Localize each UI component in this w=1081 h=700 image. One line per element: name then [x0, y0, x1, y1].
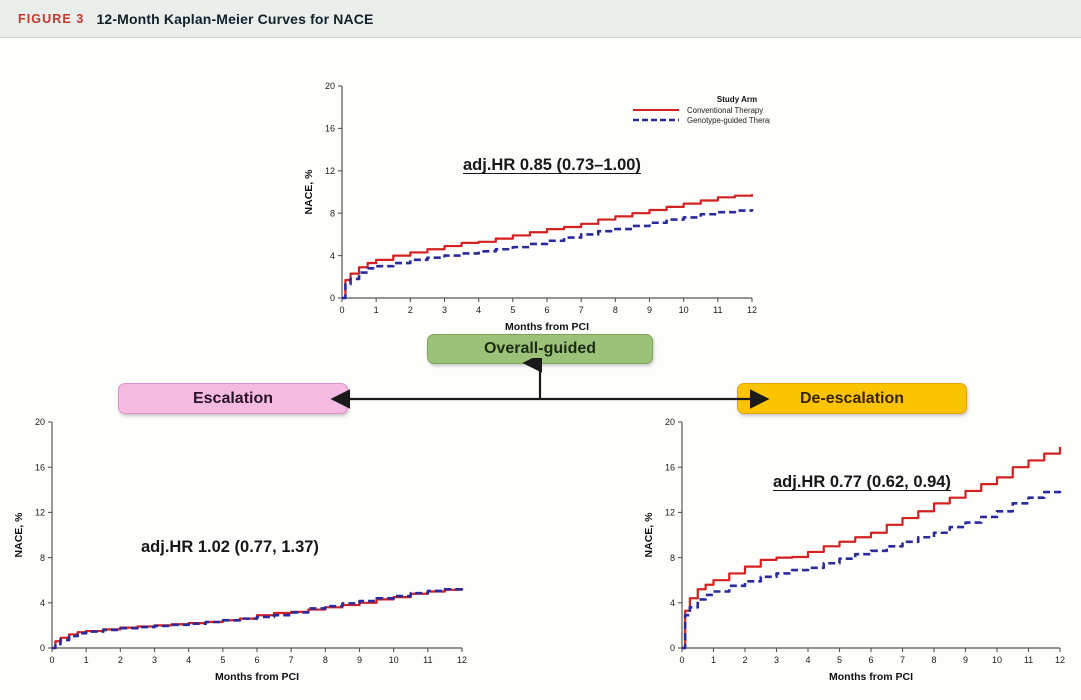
x-tick-label: 9 — [963, 655, 968, 665]
y-tick-label: 16 — [325, 124, 335, 134]
y-axis-title: NACE, % — [643, 512, 655, 558]
x-tick-label: 12 — [747, 305, 757, 315]
x-tick-label: 7 — [289, 655, 294, 665]
x-tick-label: 5 — [837, 655, 842, 665]
x-tick-label: 8 — [613, 305, 618, 315]
y-tick-label: 4 — [40, 598, 45, 608]
x-tick-label: 4 — [805, 655, 810, 665]
legend-label-conventional: Conventional Therapy — [687, 106, 763, 115]
y-tick-label: 8 — [670, 553, 675, 563]
x-tick-label: 2 — [742, 655, 747, 665]
x-axis-title: Months from PCI — [829, 671, 913, 683]
x-tick-label: 3 — [442, 305, 447, 315]
y-axis-title: NACE, % — [13, 512, 25, 558]
legend-title: Study Arm — [717, 95, 757, 104]
x-tick-label: 10 — [389, 655, 399, 665]
y-tick-label: 16 — [665, 462, 675, 472]
x-tick-label: 9 — [647, 305, 652, 315]
y-tick-label: 0 — [40, 643, 45, 653]
y-tick-label: 12 — [665, 508, 675, 518]
chart-panel-overall: 0481216200123456789101112Months from PCI… — [290, 58, 770, 348]
x-tick-label: 6 — [544, 305, 549, 315]
x-tick-label: 2 — [118, 655, 123, 665]
curve-genotype-guided — [682, 488, 1060, 648]
x-tick-label: 11 — [1024, 655, 1033, 665]
x-axis-title: Months from PCI — [505, 321, 589, 333]
curve-genotype-guided — [342, 209, 752, 298]
x-tick-label: 7 — [579, 305, 584, 315]
x-tick-label: 1 — [374, 305, 379, 315]
x-tick-label: 8 — [931, 655, 936, 665]
y-tick-label: 8 — [40, 553, 45, 563]
x-tick-label: 5 — [510, 305, 515, 315]
x-tick-label: 11 — [423, 655, 432, 665]
y-tick-label: 20 — [35, 417, 45, 427]
x-axis-title: Months from PCI — [215, 671, 299, 683]
figure-number: FIGURE 3 — [18, 12, 84, 26]
y-tick-label: 0 — [670, 643, 675, 653]
x-tick-label: 12 — [1055, 655, 1065, 665]
x-tick-label: 7 — [900, 655, 905, 665]
y-axis-title: NACE, % — [303, 169, 315, 215]
x-tick-label: 3 — [152, 655, 157, 665]
figure-canvas: 0481216200123456789101112Months from PCI… — [0, 38, 1081, 700]
chart-deescalation: 0481216200123456789101112Months from PCI… — [630, 400, 1070, 700]
hazard-ratio-deescalation: adj.HR 0.77 (0.62, 0.94) — [773, 473, 951, 492]
x-tick-label: 11 — [713, 305, 722, 315]
x-tick-label: 6 — [868, 655, 873, 665]
x-tick-label: 0 — [679, 655, 684, 665]
flow-arrows — [330, 358, 770, 420]
legend-label-genotype-guided: Genotype-guided Therapy — [687, 116, 770, 125]
x-tick-label: 1 — [711, 655, 716, 665]
chart-panel-deescalation: 0481216200123456789101112Months from PCI… — [630, 400, 1070, 700]
x-tick-label: 6 — [254, 655, 259, 665]
x-tick-label: 10 — [992, 655, 1002, 665]
hazard-ratio-overall: adj.HR 0.85 (0.73–1.00) — [463, 156, 641, 175]
y-tick-label: 4 — [670, 598, 675, 608]
y-tick-label: 0 — [330, 293, 335, 303]
curve-genotype-guided — [52, 588, 462, 648]
curve-conventional — [342, 194, 752, 298]
y-tick-label: 20 — [325, 81, 335, 91]
chart-overall: 0481216200123456789101112Months from PCI… — [290, 58, 770, 348]
y-tick-label: 16 — [35, 462, 45, 472]
y-tick-label: 12 — [35, 508, 45, 518]
flow-box-de-escalation[interactable]: De-escalation — [737, 383, 967, 414]
figure-header: FIGURE 3 12-Month Kaplan-Meier Curves fo… — [0, 0, 1081, 38]
x-tick-label: 0 — [49, 655, 54, 665]
flow-box-escalation[interactable]: Escalation — [118, 383, 348, 414]
x-tick-label: 10 — [679, 305, 689, 315]
hazard-ratio-escalation: adj.HR 1.02 (0.77, 1.37) — [141, 538, 319, 557]
y-tick-label: 4 — [330, 251, 335, 261]
y-tick-label: 8 — [330, 208, 335, 218]
x-tick-label: 3 — [774, 655, 779, 665]
x-tick-label: 0 — [339, 305, 344, 315]
x-tick-label: 5 — [220, 655, 225, 665]
x-tick-label: 8 — [323, 655, 328, 665]
figure-title: 12-Month Kaplan-Meier Curves for NACE — [96, 11, 373, 27]
x-tick-label: 4 — [186, 655, 191, 665]
x-tick-label: 1 — [84, 655, 89, 665]
x-tick-label: 9 — [357, 655, 362, 665]
x-tick-label: 2 — [408, 305, 413, 315]
x-tick-label: 12 — [457, 655, 467, 665]
y-tick-label: 12 — [325, 166, 335, 176]
x-tick-label: 4 — [476, 305, 481, 315]
